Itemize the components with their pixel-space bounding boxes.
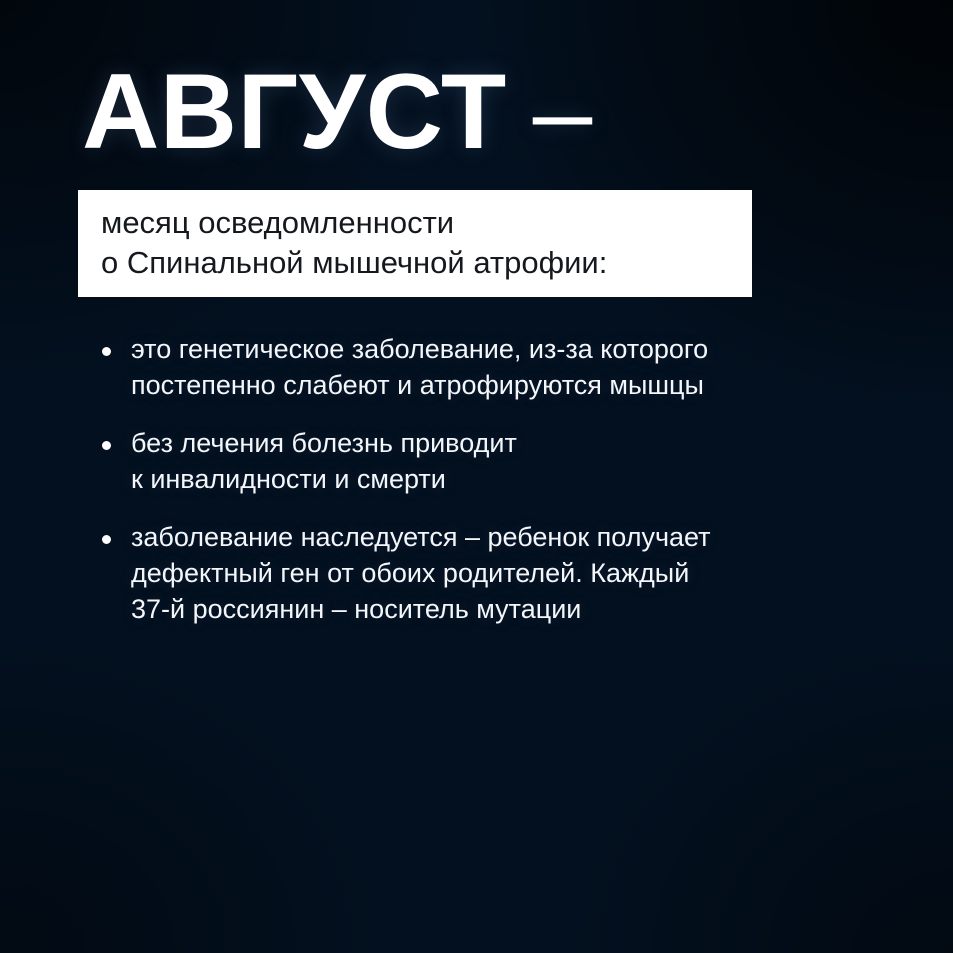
poster-canvas: АВГУСТ– месяц осведомленности о Спинальн…	[0, 0, 953, 953]
headline-word: АВГУСТ	[82, 51, 507, 171]
list-item-line: без лечения болезнь приводит	[131, 425, 840, 461]
list-item-line: это генетическое заболевание, из-за кото…	[131, 331, 840, 367]
list-item-line: дефектный ген от обоих родителей. Каждый	[131, 555, 840, 591]
fact-list: это генетическое заболевание, из-за кото…	[100, 331, 840, 627]
list-item-line: к инвалидности и смерти	[131, 461, 840, 497]
subtitle-line-1: месяц осведомленности	[101, 203, 752, 243]
bullet-dot-icon	[102, 535, 111, 544]
bullet-dot-icon	[102, 347, 111, 356]
page-title: АВГУСТ–	[82, 58, 593, 165]
subtitle-line-2: о Спинальной мышечной атрофии:	[101, 243, 752, 283]
list-item-line: заболевание наследуется – ребенок получа…	[131, 519, 840, 555]
list-item-line: постепенно слабеют и атрофируются мышцы	[131, 367, 840, 403]
list-item: заболевание наследуется – ребенок получа…	[100, 519, 840, 627]
headline-dash: –	[533, 58, 593, 165]
list-item: это генетическое заболевание, из-за кото…	[100, 331, 840, 403]
bullet-dot-icon	[102, 441, 111, 450]
list-item: без лечения болезнь приводит к инвалидно…	[100, 425, 840, 497]
list-item-line: 37-й россиянин – носитель мутации	[131, 591, 840, 627]
subtitle-banner: месяц осведомленности о Спинальной мышеч…	[78, 190, 752, 297]
